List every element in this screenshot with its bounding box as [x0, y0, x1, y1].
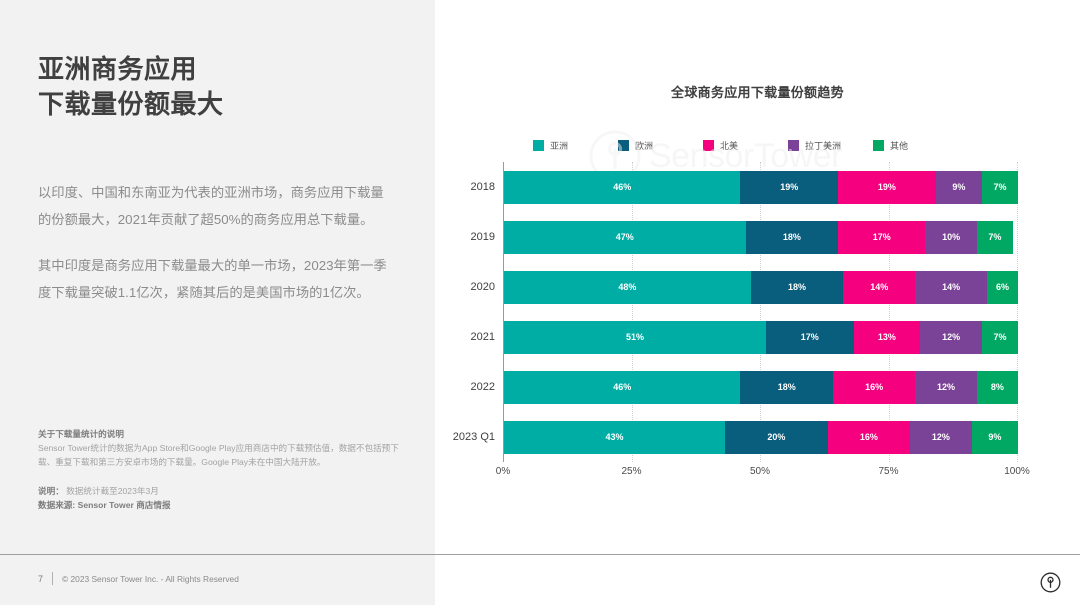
body-copy: 以印度、中国和东南亚为代表的亚洲市场，商务应用下载量的份额最大，2021年贡献了… [38, 180, 393, 306]
legend-swatch-icon [533, 140, 544, 151]
legend-swatch-icon [788, 140, 799, 151]
body-paragraph-1: 以印度、中国和东南亚为代表的亚洲市场，商务应用下载量的份额最大，2021年贡献了… [38, 180, 393, 233]
stacked-bar-row: 47%18%17%10%7% [504, 221, 1018, 254]
footnote-title: 关于下载量统计的说明 [38, 428, 408, 441]
stacked-bar-row: 46%19%19%9%7% [504, 171, 1018, 204]
page-title-line-1: 亚洲商务应用 [38, 54, 197, 84]
x-axis-tick-label: 100% [1004, 466, 1030, 477]
bar-segment[interactable]: 12% [910, 421, 972, 454]
gridline-25 [632, 162, 633, 462]
legend-item-3[interactable]: 拉丁美洲 [788, 139, 873, 152]
legend-label: 拉丁美洲 [805, 139, 841, 152]
slide-root: 亚洲商务应用 下载量份额最大 以印度、中国和东南亚为代表的亚洲市场，商务应用下载… [0, 0, 1080, 605]
bar-segment[interactable]: 20% [725, 421, 828, 454]
page-title-line-2: 下载量份额最大 [38, 87, 408, 122]
bar-segment[interactable]: 13% [854, 321, 921, 354]
bar-segment[interactable]: 47% [504, 221, 746, 254]
legend-label: 北美 [720, 139, 738, 152]
body-paragraph-2: 其中印度是商务应用下载量最大的单一市场，2023年第一季度下载量突破1.1亿次，… [38, 253, 393, 306]
footnote-note: 说明： 数据统计截至2023年3月 [38, 484, 408, 498]
bar-segment[interactable]: 12% [915, 371, 977, 404]
y-axis-category-label: 2020 [431, 271, 495, 304]
bar-segment[interactable]: 18% [751, 271, 844, 304]
page-title: 亚洲商务应用 下载量份额最大 [38, 52, 408, 123]
brand-logo [1040, 572, 1061, 593]
footer: 7 © 2023 Sensor Tower Inc. - All Rights … [38, 572, 239, 585]
x-axis-tick-label: 50% [750, 466, 770, 477]
x-axis: 0%25%50%75%100% [503, 466, 1018, 482]
chart-legend: 亚洲欧洲北美拉丁美洲其他 [435, 139, 1080, 152]
gridline-50 [760, 162, 761, 462]
footnote-source: 数据来源: Sensor Tower 商店情报 [38, 498, 408, 512]
stacked-bar-row: 43%20%16%12%9% [504, 421, 1018, 454]
chart-panel: 全球商务应用下载量份额趋势 亚洲欧洲北美拉丁美洲其他 SensorTower 2… [435, 0, 1080, 605]
bar-segment[interactable]: 17% [766, 321, 853, 354]
y-axis-line [503, 162, 504, 462]
legend-swatch-icon [873, 140, 884, 151]
chart-title: 全球商务应用下载量份额趋势 [435, 82, 1080, 101]
legend-label: 亚洲 [550, 139, 568, 152]
sensor-tower-logo-icon [1040, 572, 1061, 593]
bar-segment[interactable]: 43% [504, 421, 725, 454]
bar-segment[interactable]: 51% [504, 321, 766, 354]
bar-segment[interactable]: 7% [982, 171, 1018, 204]
copyright-text: © 2023 Sensor Tower Inc. - All Rights Re… [62, 574, 239, 584]
footer-separator [52, 572, 53, 585]
bar-segment[interactable]: 19% [740, 171, 838, 204]
legend-label: 其他 [890, 139, 908, 152]
x-axis-tick-label: 25% [621, 466, 641, 477]
footer-divider [0, 554, 1080, 555]
legend-label: 欧洲 [635, 139, 653, 152]
bar-segment[interactable]: 14% [843, 271, 915, 304]
bar-segment[interactable]: 7% [982, 321, 1018, 354]
y-axis-category-label: 2021 [431, 321, 495, 354]
legend-item-1[interactable]: 欧洲 [618, 139, 703, 152]
gridline-100 [1017, 162, 1018, 462]
bar-segment[interactable]: 48% [504, 271, 751, 304]
x-axis-tick-label: 0% [496, 466, 510, 477]
bar-segment[interactable]: 7% [977, 221, 1013, 254]
bar-segment[interactable]: 16% [828, 421, 910, 454]
legend-swatch-icon [703, 140, 714, 151]
legend-item-4[interactable]: 其他 [873, 139, 958, 152]
bar-segment[interactable]: 46% [504, 171, 740, 204]
bar-segment[interactable]: 16% [833, 371, 915, 404]
y-axis-category-label: 2019 [431, 221, 495, 254]
legend-item-2[interactable]: 北美 [703, 139, 788, 152]
y-axis-category-label: 2023 Q1 [431, 421, 495, 454]
bar-segment[interactable]: 8% [977, 371, 1018, 404]
page-number: 7 [38, 574, 43, 584]
bar-segment[interactable]: 17% [838, 221, 925, 254]
bar-segment[interactable]: 18% [746, 221, 839, 254]
y-axis-category-label: 2022 [431, 371, 495, 404]
bar-segment[interactable]: 14% [915, 271, 987, 304]
bar-segment[interactable]: 18% [740, 371, 833, 404]
bar-segment[interactable]: 46% [504, 371, 740, 404]
footnote-body: Sensor Tower统计的数据为App Store和Google Play应… [38, 442, 408, 470]
bar-segment[interactable]: 10% [925, 221, 976, 254]
bar-segment[interactable]: 19% [838, 171, 936, 204]
legend-swatch-icon [618, 140, 629, 151]
legend-item-0[interactable]: 亚洲 [533, 139, 618, 152]
gridline-75 [889, 162, 890, 462]
bar-segment[interactable]: 12% [920, 321, 982, 354]
x-axis-tick-label: 75% [878, 466, 898, 477]
bar-segment[interactable]: 9% [972, 421, 1018, 454]
footnote-block: 关于下载量统计的说明 Sensor Tower统计的数据为App Store和G… [38, 428, 408, 512]
stacked-bar-row: 51%17%13%12%7% [504, 321, 1018, 354]
footnote-note-value: 数据统计截至2023年3月 [66, 486, 159, 496]
stacked-bar-row: 48%18%14%14%6% [504, 271, 1018, 304]
y-axis-category-label: 2018 [431, 171, 495, 204]
left-text-panel: 亚洲商务应用 下载量份额最大 以印度、中国和东南亚为代表的亚洲市场，商务应用下载… [0, 0, 435, 605]
bar-segment[interactable]: 6% [987, 271, 1018, 304]
stacked-bar-row: 46%18%16%12%8% [504, 371, 1018, 404]
bar-segment[interactable]: 9% [936, 171, 982, 204]
chart-plot-area: 201846%19%19%9%7%201947%18%17%10%7%20204… [503, 162, 1018, 462]
footnote-note-label: 说明： [38, 486, 64, 496]
